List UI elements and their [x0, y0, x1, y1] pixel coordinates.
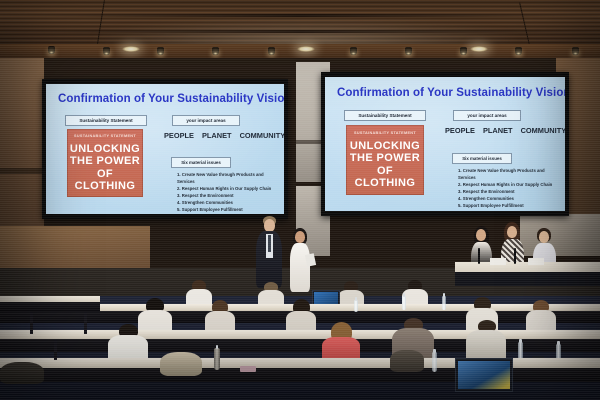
statement-line-1: UNLOCKING: [350, 140, 420, 152]
paper-on-desk: [490, 258, 506, 265]
material-issue-1b: Services: [458, 175, 552, 182]
material-issue-2: 2. Respect Human Rights in Our Supply Ch…: [177, 186, 271, 193]
six-material-issues-label: Six material issues: [452, 153, 512, 164]
impact-area-planet: PLANET: [483, 126, 513, 135]
wall-seam: [0, 168, 44, 174]
ceiling-spotlight: [157, 47, 164, 55]
head: [476, 229, 486, 241]
six-material-issues-label: Six material issues: [171, 157, 231, 168]
impact-area-planet: PLANET: [202, 131, 232, 140]
material-issue-3: 3. Respect the Environment: [458, 189, 552, 196]
impact-area-community: COMMUNITY: [240, 131, 284, 140]
slide-surface-left: Confirmation of Your Sustainability Visi…: [46, 84, 284, 214]
slide-title: Confirmation of Your Sustainability Visi…: [58, 93, 284, 105]
empty-desk-front: [0, 302, 100, 312]
impact-areas-label: your impact areas: [172, 115, 240, 126]
statement-line-2: THE POWER: [70, 155, 140, 167]
ceiling-spotlight: [405, 47, 412, 55]
audience-member: [205, 300, 235, 334]
ceiling-downlight: [297, 46, 315, 52]
slide-surface-right: Confirmation of Your Sustainability Visi…: [325, 77, 565, 211]
foreground-bag: [390, 350, 424, 372]
microphone-stand: [514, 248, 516, 264]
audience-member: [322, 322, 360, 362]
statement-line-2: THE POWER: [350, 152, 420, 164]
lecture-hall-scene: Confirmation of Your Sustainability Visi…: [0, 0, 600, 400]
sustainability-statement-label: Sustainability Statement: [65, 115, 147, 126]
ceiling-spotlight: [212, 47, 219, 55]
material-issue-4: 4. Strengthen Communities: [458, 196, 552, 203]
impact-areas-row: PEOPLE PLANET COMMUNITY: [445, 126, 565, 135]
right-projection-screen[interactable]: Confirmation of Your Sustainability Visi…: [321, 72, 569, 216]
material-issue-5: 5. Support Employee Fulfillment: [177, 207, 271, 214]
presenter-suited-man: [255, 216, 283, 288]
water-bottle: [354, 300, 358, 312]
desk-leg: [54, 340, 57, 360]
foreground-bag: [160, 352, 202, 376]
ceiling-beam: [0, 30, 600, 33]
impact-area-people: PEOPLE: [164, 131, 194, 140]
head: [295, 231, 305, 243]
head: [507, 226, 517, 238]
material-issue-4: 4. Strengthen Communities: [177, 200, 271, 207]
audience-desk-row-2-front: [0, 339, 600, 352]
paper-on-desk: [528, 258, 544, 265]
ceiling-spotlight: [515, 47, 522, 55]
foreground-bag: [0, 362, 44, 384]
material-issue-5: 5. Support Employee Fulfillment: [458, 203, 552, 210]
ceiling-spotlight: [350, 47, 357, 55]
audience-member: [526, 300, 556, 334]
statement-line-1: UNLOCKING: [70, 143, 140, 155]
sustainability-statement-label: Sustainability Statement: [344, 110, 426, 121]
panel-desk-front: [455, 272, 600, 286]
sustainability-statement-box: SUSTAINABILITY STATEMENT UNLOCKING THE P…: [67, 129, 143, 197]
ceiling-spotlight: [48, 46, 55, 54]
ceiling-spotlight: [460, 47, 467, 55]
material-issue-1b: Services: [177, 179, 271, 186]
water-bottle: [214, 348, 220, 370]
water-bottle: [432, 352, 437, 372]
impact-area-community: COMMUNITY: [521, 126, 565, 135]
material-issues-list: 1. Create New Value through Products and…: [177, 172, 271, 214]
water-bottle: [402, 296, 406, 310]
ceiling-spotlight: [268, 47, 275, 55]
impact-area-people: PEOPLE: [445, 126, 475, 135]
head: [539, 231, 549, 243]
ceiling-downlight: [122, 46, 140, 52]
statement-line-3: OF CLOTHING: [346, 165, 424, 190]
material-issue-1a: 1. Create New Value through Products and: [458, 168, 552, 175]
presenter-woman-white-top: [288, 228, 312, 292]
material-issue-3: 3. Respect the Environment: [177, 193, 271, 200]
material-issues-list: 1. Create New Value through Products and…: [458, 168, 552, 211]
statement-eyebrow: SUSTAINABILITY STATEMENT: [74, 134, 136, 138]
ceiling-beam: [0, 14, 600, 17]
smartphone: [240, 366, 256, 372]
material-issue-6: 6. Governance: [458, 210, 552, 211]
impact-areas-label: your impact areas: [453, 110, 521, 121]
ceiling-spotlight: [572, 47, 579, 55]
ceiling-downlight: [470, 46, 488, 52]
statement-line-3: OF CLOTHING: [67, 168, 143, 193]
necktie: [268, 235, 271, 252]
audience-member: [286, 299, 316, 334]
desk-leg: [84, 312, 87, 334]
sustainability-statement-box: SUSTAINABILITY STATEMENT UNLOCKING THE P…: [346, 125, 424, 195]
audience-member: [466, 320, 506, 362]
material-issue-1a: 1. Create New Value through Products and: [177, 172, 271, 179]
ceiling-spotlight: [103, 47, 110, 55]
statement-eyebrow: SUSTAINABILITY STATEMENT: [354, 131, 416, 135]
wall-panel-left: [0, 58, 44, 228]
foreground-laptop: [455, 358, 513, 392]
water-bottle: [442, 296, 446, 310]
microphone-stand: [478, 248, 480, 264]
slide-title: Confirmation of Your Sustainability Visi…: [337, 87, 565, 99]
audience-member: [108, 324, 148, 362]
material-issue-2: 2. Respect Human Rights in Our Supply Ch…: [458, 182, 552, 189]
laptop-screen: [458, 361, 510, 389]
torso-white-top: [290, 243, 310, 292]
desk-leg: [30, 312, 33, 334]
left-projection-screen[interactable]: Confirmation of Your Sustainability Visi…: [42, 79, 288, 219]
impact-areas-row: PEOPLE PLANET COMMUNITY: [164, 131, 284, 140]
